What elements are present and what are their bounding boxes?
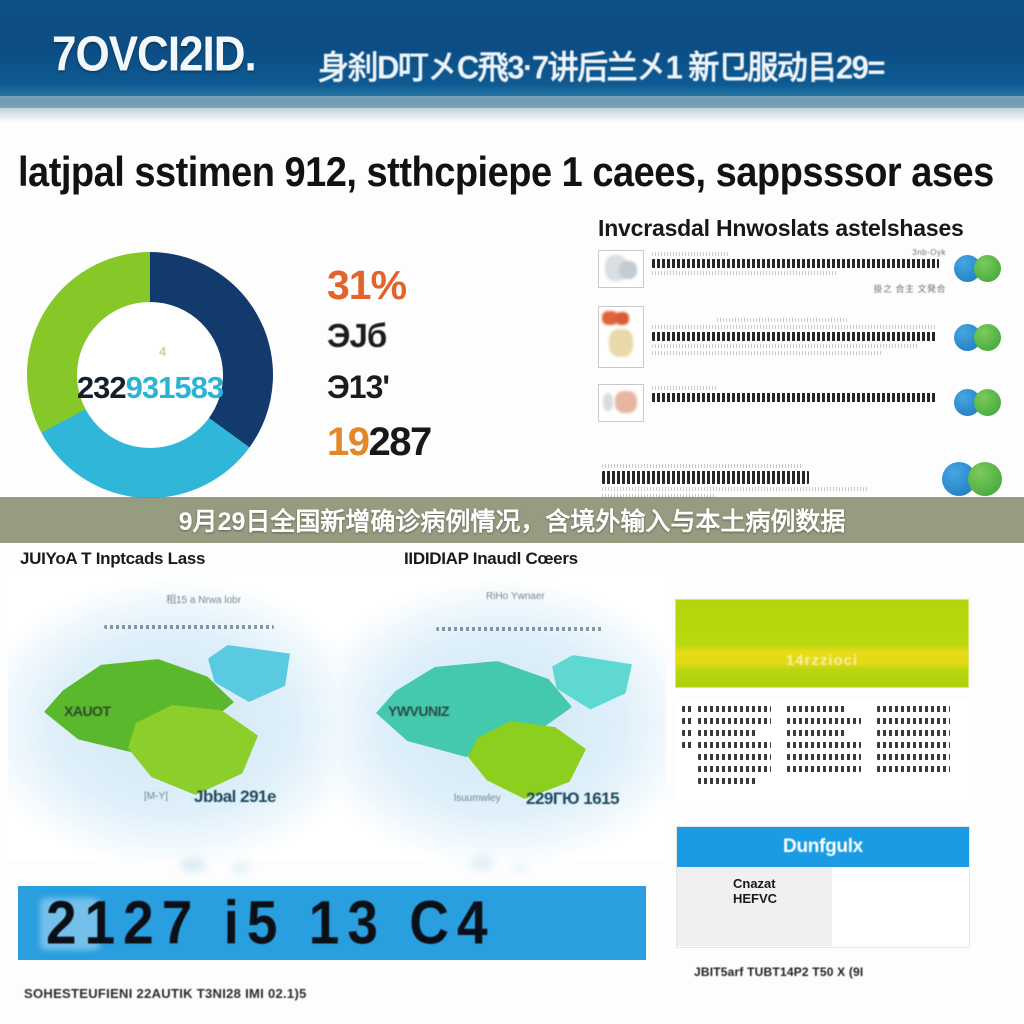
map-region-green-light bbox=[128, 705, 258, 795]
donut-center-light: 931583 bbox=[126, 370, 223, 405]
blue-card-body-text: Cnazat HEFVC bbox=[733, 877, 777, 907]
map-left-region-label: XAUOT bbox=[64, 703, 111, 719]
blue-card-header: Dunfgulx bbox=[677, 827, 969, 867]
text-column-1 bbox=[698, 706, 781, 802]
map-left[interactable]: 相15 a Nrwa lobr [M-Y] XAUOT Jbbal 291e bbox=[8, 575, 338, 860]
bottom-blue-bar[interactable]: 2127 i5 13 C4 bbox=[18, 886, 646, 960]
text-column-3 bbox=[877, 706, 960, 802]
green-circle-icon[interactable] bbox=[974, 255, 1001, 282]
stat-mixed-orange: 19 bbox=[327, 420, 369, 464]
list-item-text bbox=[652, 250, 948, 278]
map-left-value-label: Jbbal 291e bbox=[194, 787, 276, 807]
map-left-top-note: 相15 a Nrwa lobr bbox=[166, 591, 241, 606]
green-banner-card[interactable]: 14rzzioci bbox=[676, 600, 968, 687]
list-item-icons[interactable] bbox=[954, 319, 1016, 355]
thumbnail-image bbox=[598, 250, 644, 288]
text-column-2 bbox=[787, 706, 870, 802]
green-banner-label: 14rzzioci bbox=[676, 652, 968, 669]
page-title: latjpal sstimen 912, stthcpiepe 1 caees,… bbox=[18, 150, 994, 197]
header-gradient-fade bbox=[0, 96, 1024, 122]
list-item[interactable] bbox=[598, 462, 1016, 501]
results-list: 3nb-Oyk 掛之 合主 文発合 bbox=[598, 250, 1016, 507]
map-left-small-note: [M-Y] bbox=[144, 791, 168, 802]
map-right-small-note: lsuumwley bbox=[454, 793, 501, 804]
list-item-tail-text: 掛之 合主 文発合 bbox=[873, 282, 946, 295]
right-section-heading: Invcrasdal Hnwoslats astelshases bbox=[598, 215, 964, 242]
decorative-spray bbox=[232, 862, 250, 874]
list-item-text bbox=[652, 384, 948, 405]
decorative-spray bbox=[512, 862, 528, 872]
map-right[interactable]: RiHo Ywnaer lsuumwley YWVUNIZ 229ГЮ 1615 bbox=[336, 575, 666, 860]
list-item-tail-text: 3nb-Oyk bbox=[912, 248, 946, 257]
donut-chart: 4 232931583 bbox=[27, 252, 273, 498]
map-right-region-label: YWVUNIZ bbox=[388, 703, 449, 719]
green-circle-icon[interactable] bbox=[974, 324, 1001, 351]
screenshot-root: 7OVCI2ID. 身刹D叮㐅C飛3·7讲后兰㐅1 新㔾服动㠯29= latjp… bbox=[0, 0, 1024, 1024]
list-item-icons[interactable] bbox=[942, 462, 1016, 498]
list-item[interactable]: 掛之 合主 文発合 bbox=[598, 306, 1016, 368]
stat-mixed-dark: 287 bbox=[369, 420, 431, 464]
blue-card-title: Dunfgulx bbox=[783, 836, 863, 858]
map-right-top-line bbox=[436, 627, 604, 631]
bottom-bar-glyphs: 2127 i5 13 C4 bbox=[46, 886, 496, 958]
green-circle-icon[interactable] bbox=[974, 389, 1001, 416]
page-header: 7OVCI2ID. 身刹D叮㐅C飛3·7讲后兰㐅1 新㔾服动㠯29= bbox=[0, 0, 1024, 108]
overlay-caption-band: 9月29日全国新增确诊病例情况，含境外输入与本土病例数据 bbox=[0, 497, 1024, 543]
decorative-spray bbox=[180, 858, 206, 872]
text-column-gutter bbox=[682, 706, 692, 802]
stat-line-2: Э13' bbox=[327, 369, 507, 406]
donut-tick-label: 4 bbox=[159, 344, 166, 359]
map-left-top-line bbox=[104, 625, 274, 629]
decorative-spray bbox=[470, 856, 494, 870]
map-right-value-label: 229ГЮ 1615 bbox=[526, 789, 619, 809]
stat-line-1: ЭJб bbox=[327, 317, 507, 355]
header-subtitle: 身刹D叮㐅C飛3·7讲后兰㐅1 新㔾服动㠯29= bbox=[318, 41, 884, 88]
thumbnail-image bbox=[598, 384, 644, 422]
blue-info-card[interactable]: Dunfgulx Cnazat HEFVC bbox=[676, 826, 970, 948]
text-columns-block bbox=[676, 700, 968, 802]
donut-center-label: 232931583 bbox=[27, 370, 273, 406]
list-item-icons[interactable] bbox=[954, 384, 1016, 420]
list-item-icons[interactable] bbox=[954, 250, 1016, 286]
stat-percent: 31% bbox=[327, 262, 507, 309]
thumbnail-image bbox=[598, 306, 644, 368]
list-item-text bbox=[598, 462, 936, 501]
stat-mixed-value: 19287 bbox=[327, 420, 507, 465]
green-circle-icon[interactable] bbox=[968, 462, 1002, 496]
bottom-bar-caption: SOHESTEUFIENI 22AUTIK T3NI28 IMI 02.1)5 bbox=[24, 986, 307, 1001]
map-right-top-note: RiHo Ywnaer bbox=[486, 591, 545, 602]
header-title: 7OVCI2ID. bbox=[52, 27, 256, 83]
list-item[interactable] bbox=[598, 384, 1016, 422]
map-heading-left: JUIYoA T Inptcads Lass bbox=[20, 549, 205, 569]
blue-card-caption: JBIT5arf TUBT14P2 T50 X (9I bbox=[694, 965, 863, 979]
list-item[interactable]: 3nb-Oyk bbox=[598, 250, 1016, 288]
blue-card-body: Cnazat HEFVC bbox=[677, 867, 832, 946]
map-heading-right: IIDIDIAP Inaudl Cœers bbox=[404, 549, 578, 569]
stat-block: 31% ЭJб Э13' 19287 bbox=[327, 262, 507, 465]
donut-center-dark: 232 bbox=[77, 370, 126, 405]
list-item-text bbox=[652, 316, 948, 358]
overlay-caption-text: 9月29日全国新增确诊病例情况，含境外输入与本土病例数据 bbox=[179, 502, 846, 538]
